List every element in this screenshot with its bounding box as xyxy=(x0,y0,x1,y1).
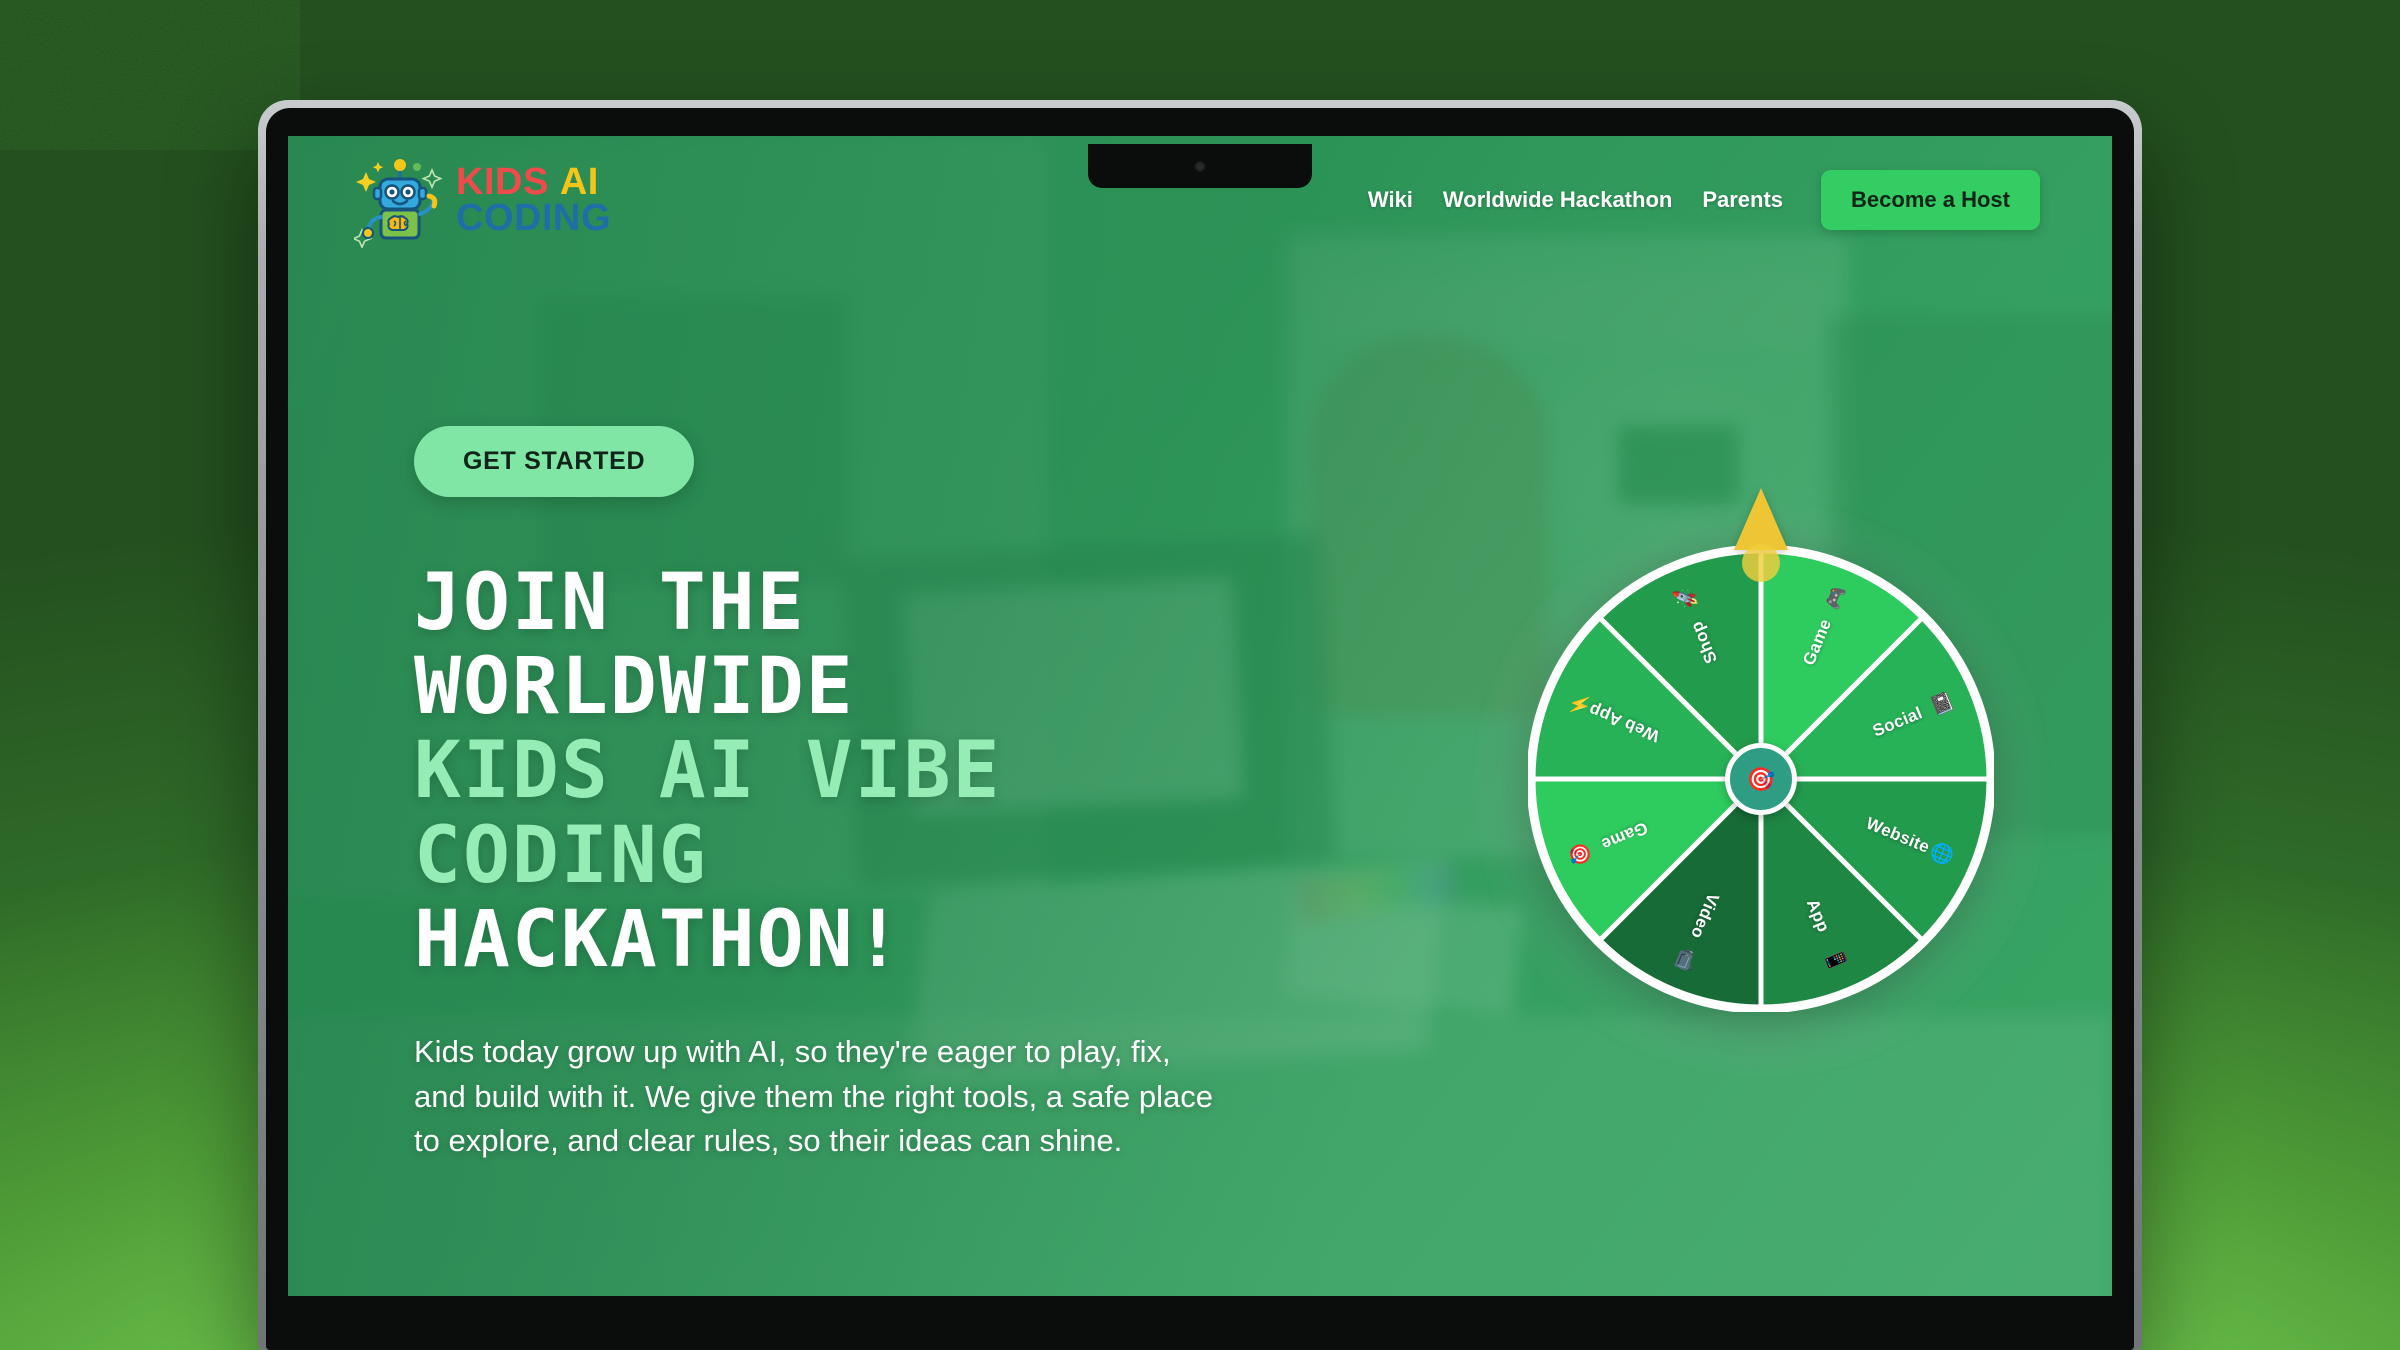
robot-mascot-icon xyxy=(354,152,446,248)
site-logo[interactable]: KIDS AI CODING xyxy=(354,152,611,248)
screen-notch xyxy=(1088,144,1312,188)
wheel-pointer-hub xyxy=(1742,544,1780,582)
logo-coding-text: CODING xyxy=(456,200,611,236)
headline-line-3: KIDS AI VIBE xyxy=(414,726,1002,816)
page-root: KIDS AI CODING Wiki Worldwide Hackathon … xyxy=(0,0,2400,1350)
hero-headline: JOIN THE WORLDWIDE KIDS AI VIBE CODING H… xyxy=(414,561,1334,982)
nav-link-worldwide-hackathon[interactable]: Worldwide Hackathon xyxy=(1443,187,1672,213)
wheel-disc[interactable]: Game🎮Social📓Website🌐App📱Video📹Game🎯Web A… xyxy=(1528,546,1994,1012)
hero-paragraph: Kids today grow up with AI, so they're e… xyxy=(414,1030,1224,1164)
wheel-hub-target-icon[interactable]: 🎯 xyxy=(1725,743,1797,815)
webcam-dot-icon xyxy=(1195,161,1206,172)
wheel-pointer-triangle-icon xyxy=(1734,488,1788,550)
main-navigation: Wiki Worldwide Hackathon Parents Become … xyxy=(1368,170,2040,230)
nav-link-parents[interactable]: Parents xyxy=(1702,187,1783,213)
laptop-screen: KIDS AI CODING Wiki Worldwide Hackathon … xyxy=(288,136,2112,1296)
hero-copy-column: GET STARTED JOIN THE WORLDWIDE KIDS AI V… xyxy=(414,426,1334,1164)
headline-line-4: CODING xyxy=(414,811,708,901)
nav-link-wiki[interactable]: Wiki xyxy=(1368,187,1413,213)
website-viewport: KIDS AI CODING Wiki Worldwide Hackathon … xyxy=(288,136,2112,1296)
become-a-host-button[interactable]: Become a Host xyxy=(1821,170,2040,230)
headline-line-5: HACKATHON! xyxy=(414,895,904,985)
background-grain-texture xyxy=(0,0,300,150)
hero-section: GET STARTED JOIN THE WORLDWIDE KIDS AI V… xyxy=(288,136,2112,1296)
get-started-button[interactable]: GET STARTED xyxy=(414,426,694,497)
logo-wordmark: KIDS AI CODING xyxy=(456,164,611,237)
laptop-mockup: KIDS AI CODING Wiki Worldwide Hackathon … xyxy=(258,100,2142,1350)
spin-wheel[interactable]: Game🎮Social📓Website🌐App📱Video📹Game🎯Web A… xyxy=(1506,524,2016,1034)
headline-line-2: WORLDWIDE xyxy=(414,642,855,732)
headline-line-1: JOIN THE xyxy=(414,558,806,648)
logo-line-1: KIDS AI xyxy=(456,164,611,200)
